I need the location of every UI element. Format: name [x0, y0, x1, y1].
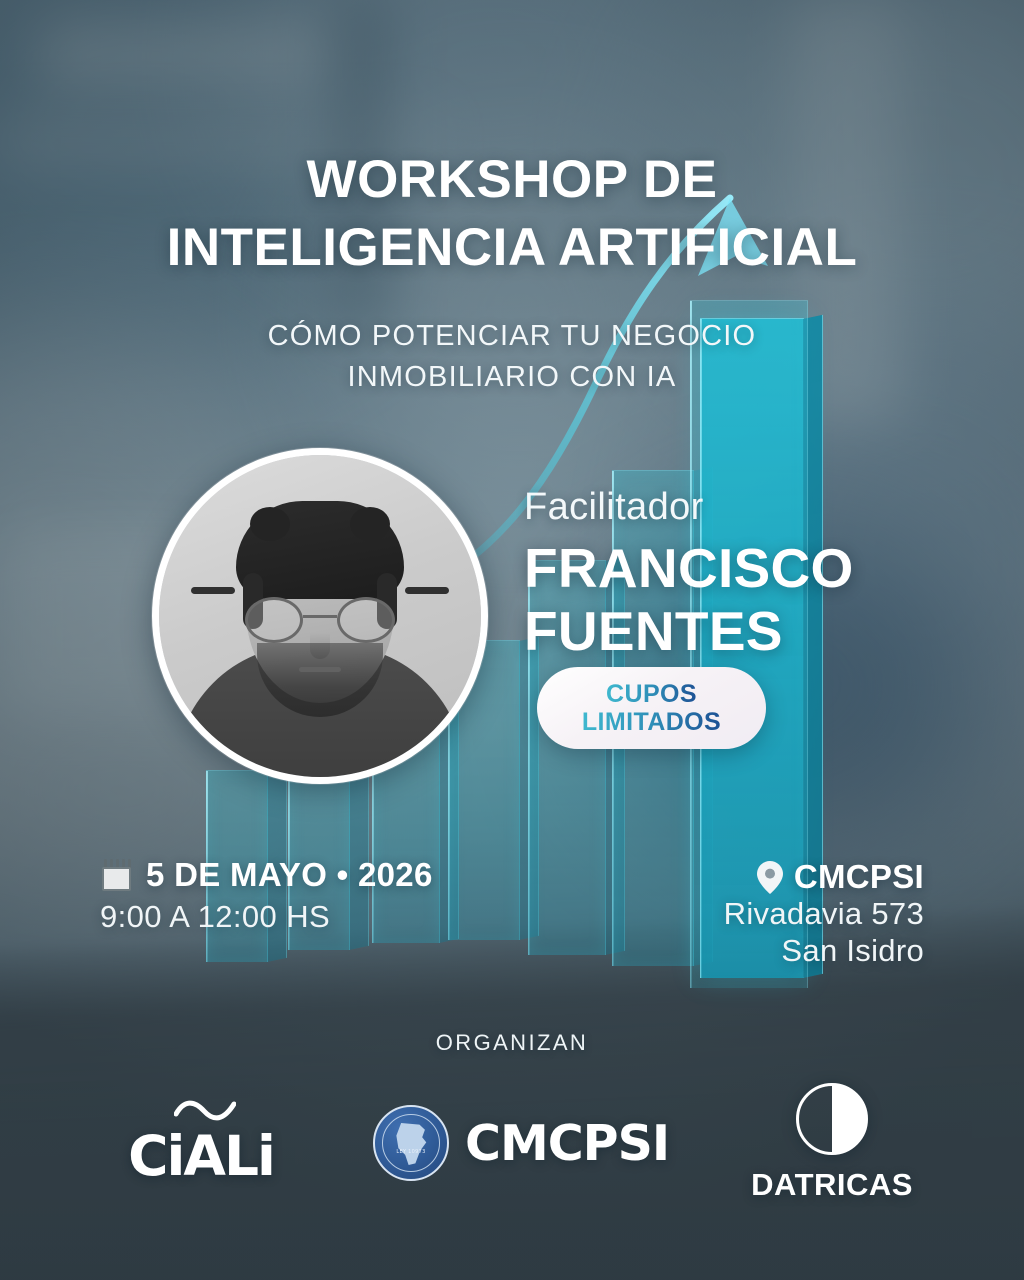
map-pin-icon	[757, 861, 783, 894]
wave-mark-icon	[174, 1100, 236, 1122]
calendar-body	[102, 867, 131, 891]
page-subtitle: CÓMO POTENCIAR TU NEGOCIO INMOBILIARIO C…	[0, 316, 1024, 398]
event-date-row: 5 DE MAYO • 2026	[100, 856, 433, 894]
event-venue: CMCPSI	[794, 858, 924, 896]
seal-text: LEY 10973	[396, 1149, 425, 1155]
title-line-2: INTELIGENCIA ARTIFICIAL	[0, 214, 1024, 282]
logo-datricas-text: DATRICAS	[751, 1167, 913, 1203]
photo-eyebrow-left	[191, 587, 235, 594]
speaker-first-name: FRANCISCO	[524, 538, 944, 599]
event-time: 9:00 A 12:00 HS	[100, 899, 433, 935]
event-location-block: CMCPSI Rivadavia 573 San Isidro	[724, 858, 924, 969]
badge-line-2: LIMITADOS	[582, 708, 721, 736]
page-title: WORKSHOP DE INTELIGENCIA ARTIFICIAL	[0, 146, 1024, 282]
glasses-lens-left	[245, 597, 303, 643]
logo-cmcpsi: LEY 10973 CMCPSI	[373, 1105, 669, 1181]
subtitle-line-1: CÓMO POTENCIAR TU NEGOCIO	[0, 316, 1024, 357]
glasses-lens-right	[337, 597, 395, 643]
speaker-avatar	[152, 448, 488, 784]
event-address-line-2: San Isidro	[724, 933, 924, 970]
speaker-photo	[159, 455, 481, 777]
speaker-info: Facilitador FRANCISCO FUENTES	[524, 488, 944, 661]
poster-canvas: WORKSHOP DE INTELIGENCIA ARTIFICIAL CÓMO…	[0, 0, 1024, 1280]
calendar-icon	[100, 859, 133, 892]
event-date: 5 DE MAYO • 2026	[146, 856, 433, 894]
circular-seal-icon: LEY 10973	[373, 1105, 449, 1181]
glasses-icon	[245, 597, 395, 643]
badge-line-1: CUPOS	[606, 680, 697, 708]
logo-cmcpsi-text: CMCPSI	[465, 1115, 669, 1172]
speaker-role-label: Facilitador	[524, 488, 944, 526]
glasses-bridge	[303, 615, 337, 618]
event-venue-row: CMCPSI	[724, 858, 924, 896]
subtitle-line-2: INMOBILIARIO CON IA	[0, 357, 1024, 398]
status-badge[interactable]: CUPOS LIMITADOS	[537, 667, 766, 749]
logo-ciali-text: CiALi	[111, 1124, 291, 1188]
half-filled-circle-icon	[796, 1083, 868, 1155]
organizers-heading: ORGANIZAN	[0, 1030, 1024, 1056]
logo-datricas: DATRICAS	[751, 1083, 913, 1203]
photo-mouth	[299, 667, 341, 672]
photo-eyebrow-right	[405, 587, 449, 594]
poster-content: WORKSHOP DE INTELIGENCIA ARTIFICIAL CÓMO…	[0, 0, 1024, 1280]
logo-ciali: CiALi	[111, 1088, 291, 1198]
event-date-block: 5 DE MAYO • 2026 9:00 A 12:00 HS	[100, 856, 433, 935]
event-address-line-1: Rivadavia 573	[724, 896, 924, 933]
organizer-logos: CiALi LEY 10973 CMCPSI DATRICAS	[0, 1078, 1024, 1208]
title-line-1: WORKSHOP DE	[0, 146, 1024, 214]
speaker-last-name: FUENTES	[524, 601, 944, 662]
